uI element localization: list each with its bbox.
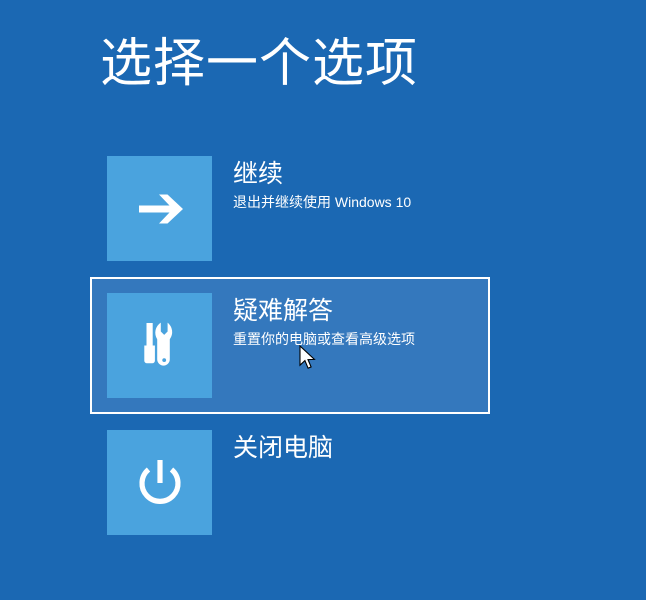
option-troubleshoot[interactable]: 疑难解答 重置你的电脑或查看高级选项 <box>90 277 490 414</box>
option-continue-subtitle: 退出并继续使用 Windows 10 <box>233 193 488 212</box>
option-continue-title: 继续 <box>233 158 488 190</box>
options-list: 继续 退出并继续使用 Windows 10 疑难解答 <box>0 140 646 551</box>
option-troubleshoot-tile <box>107 293 212 398</box>
recovery-screen: 选择一个选项 继续 退出并继续使用 Windows 10 <box>0 0 646 600</box>
arrow-right-icon <box>129 178 191 240</box>
option-troubleshoot-text: 疑难解答 重置你的电脑或查看高级选项 <box>212 293 488 349</box>
page-title: 选择一个选项 <box>100 32 418 96</box>
option-continue[interactable]: 继续 退出并继续使用 Windows 10 <box>90 140 490 277</box>
option-turn-off-pc-text: 关闭电脑 <box>212 430 488 464</box>
screwdriver-wrench-icon <box>129 315 191 377</box>
option-turn-off-pc[interactable]: 关闭电脑 <box>90 414 490 551</box>
option-troubleshoot-subtitle: 重置你的电脑或查看高级选项 <box>233 330 488 349</box>
power-icon <box>129 452 191 514</box>
option-continue-tile <box>107 156 212 261</box>
option-continue-text: 继续 退出并继续使用 Windows 10 <box>212 156 488 212</box>
option-turn-off-pc-tile <box>107 430 212 535</box>
option-turn-off-pc-title: 关闭电脑 <box>233 432 488 464</box>
option-troubleshoot-title: 疑难解答 <box>233 295 488 327</box>
